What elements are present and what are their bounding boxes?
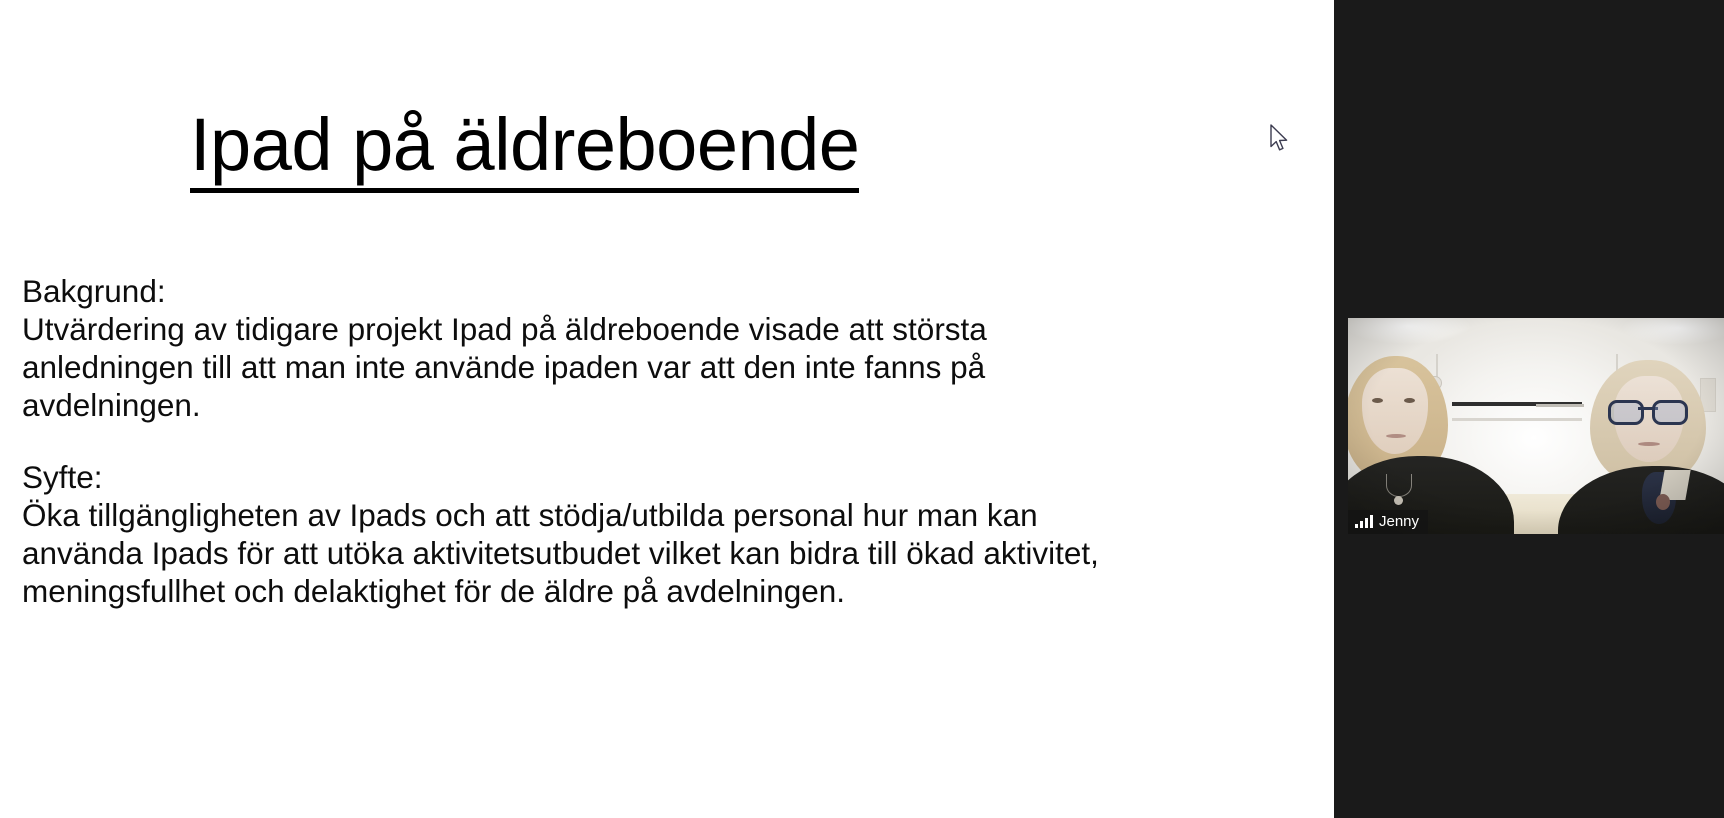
block-text-syfte: Öka tillgängligheten av Ipads och att st… (22, 496, 1152, 610)
slide-block-syfte: Syfte: Öka tillgängligheten av Ipads och… (22, 458, 1152, 610)
person-eye (1372, 398, 1383, 403)
participant-person-left (1348, 346, 1512, 534)
person-glasses (1608, 400, 1688, 420)
person-necklace-pendant (1656, 494, 1670, 510)
participant-person-right (1552, 354, 1724, 534)
screen-share-view: Ipad på äldreboende Bakgrund: Utvärderin… (0, 0, 1724, 818)
signal-bars-icon (1355, 515, 1373, 528)
person-necklace (1386, 474, 1412, 497)
person-torso (1558, 466, 1724, 534)
webcam-video-feed (1348, 318, 1724, 534)
block-text-bakgrund: Utvärdering av tidigare projekt Ipad på … (22, 310, 1152, 424)
participant-name: Jenny (1379, 514, 1419, 529)
person-mouth (1386, 434, 1406, 438)
person-eye (1404, 398, 1415, 403)
person-pendant (1394, 496, 1403, 505)
block-heading-bakgrund: Bakgrund: (22, 272, 1152, 310)
presentation-slide: Ipad på äldreboende Bakgrund: Utvärderin… (0, 0, 1334, 818)
person-mouth (1638, 442, 1660, 446)
video-participants-panel: Jenny (1334, 0, 1724, 818)
slide-body: Bakgrund: Utvärdering av tidigare projek… (22, 272, 1152, 610)
participant-video-tile[interactable]: Jenny (1348, 318, 1724, 534)
slide-block-bakgrund: Bakgrund: Utvärdering av tidigare projek… (22, 272, 1152, 424)
block-heading-syfte: Syfte: (22, 458, 1152, 496)
participant-name-label: Jenny (1348, 510, 1428, 534)
slide-title: Ipad på äldreboende (190, 108, 859, 193)
glasses-lens (1652, 400, 1688, 425)
glasses-lens (1608, 400, 1644, 425)
